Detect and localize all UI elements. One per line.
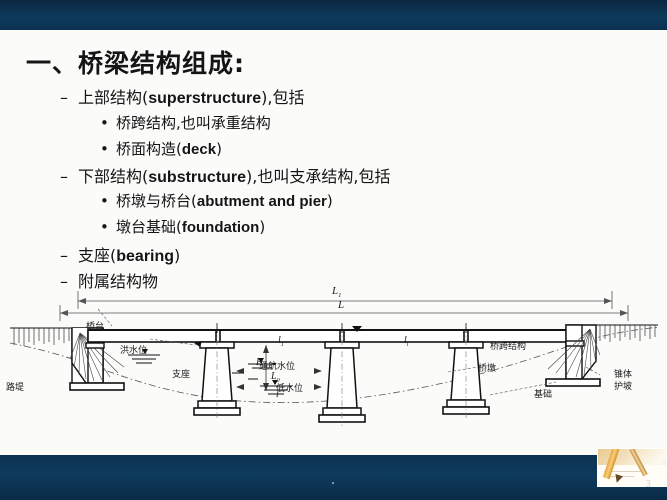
outline-text-pre: 墩台基础( [116, 218, 182, 236]
outline-text-post: ) [259, 218, 265, 236]
outline-text-post: ) [174, 246, 180, 265]
outline-text-pre: 桥面构造( [116, 140, 182, 158]
list-marker-dash: – [60, 88, 78, 107]
corner-pencil-thumbnail [597, 448, 667, 487]
outline-text-en: substructure [148, 169, 246, 186]
bridge-diagram-svg [0, 283, 667, 455]
outline-text-post: ) [216, 140, 222, 158]
figure-label-foundation: 基础 [534, 387, 552, 400]
list-marker-dash: – [60, 167, 78, 186]
bridge-elevation-diagram: 桥台 路堤 洪水位 支座 通航水位 低水位 桥跨结构 桥墩 基础 锥体 护坡 L… [0, 283, 667, 455]
right-ground-hatch [600, 325, 655, 342]
outline-text-pre: 桥跨结构,也叫承重结构 [116, 114, 271, 132]
slide-body: 一、桥梁结构组成: –上部结构(superstructure),包括 •桥跨结构… [0, 30, 667, 285]
figure-label-flood-level: 洪水位 [120, 343, 147, 356]
figure-label-low-level: 低水位 [276, 381, 303, 394]
dim-line-total-length [78, 291, 612, 309]
pier-2 [319, 327, 365, 426]
slide-canvas: 一、桥梁结构组成: –上部结构(superstructure),包括 •桥跨结构… [0, 0, 667, 500]
outline-item-substructure: –下部结构(substructure),也叫支承结构,包括 [60, 163, 390, 187]
dim-label-total-length: L1 [332, 285, 341, 299]
outline-text-pre: 上部结构( [78, 88, 148, 107]
outline-text-pre: 支座( [78, 246, 116, 265]
top-decor-bar [0, 0, 667, 30]
list-marker-bullet: • [100, 218, 116, 236]
outline-item-abutment-pier: •桥墩与桥台(abutment and pier) [100, 190, 333, 211]
figure-label-abutment: 桥台 [86, 319, 104, 332]
list-marker-dash: – [60, 246, 78, 265]
outline-text-post: ),也叫支承结构,包括 [246, 167, 390, 186]
page-number: 3 [646, 478, 652, 490]
figure-label-bearing: 支座 [172, 367, 190, 380]
left-ground-hatch [14, 328, 69, 346]
list-marker-bullet: • [100, 114, 116, 132]
figure-label-span-structure: 桥跨结构 [490, 339, 526, 352]
outline-text-pre: 下部结构( [78, 167, 148, 186]
outline-text-en: abutment and pier [197, 193, 327, 210]
outline-text-en: superstructure [148, 90, 261, 107]
outline-item-bearing: –支座(bearing) [60, 242, 180, 266]
outline-item-superstructure: –上部结构(superstructure),包括 [60, 84, 305, 108]
outline-text-pre: 桥墩与桥台( [116, 192, 197, 210]
dim-label-clear-span-l: l [276, 389, 279, 402]
dim-label-bridge-length: L [338, 299, 344, 313]
dim-label-span-l1: l1 [278, 335, 284, 348]
figure-label-embankment: 路堤 [6, 380, 24, 393]
outline-text-post: ),包括 [261, 88, 304, 107]
outline-item-foundation: •墩台基础(foundation) [100, 216, 265, 237]
bottom-decor-bar [0, 455, 667, 500]
figure-label-pier: 桥墩 [478, 361, 496, 374]
list-marker-bullet: • [100, 140, 116, 158]
outline-text-en: bearing [116, 248, 174, 265]
page-title: 一、桥梁结构组成: [26, 44, 245, 80]
list-marker-bullet: • [100, 192, 116, 210]
footer-dot [332, 482, 334, 484]
dim-label-clear-span-l0: L0 [271, 371, 280, 384]
outline-item-deck: •桥面构造(deck) [100, 138, 222, 159]
figure-label-cone-slope-line2: 护坡 [614, 379, 632, 392]
outline-item-span-structure: •桥跨结构,也叫承重结构 [100, 112, 271, 133]
outline-text-post: ) [327, 192, 333, 210]
dim-label-span-li: li [404, 335, 408, 348]
outline-text-en: foundation [182, 219, 259, 236]
dim-label-clear-height: H [256, 357, 263, 370]
outline-text-en: deck [182, 141, 216, 158]
